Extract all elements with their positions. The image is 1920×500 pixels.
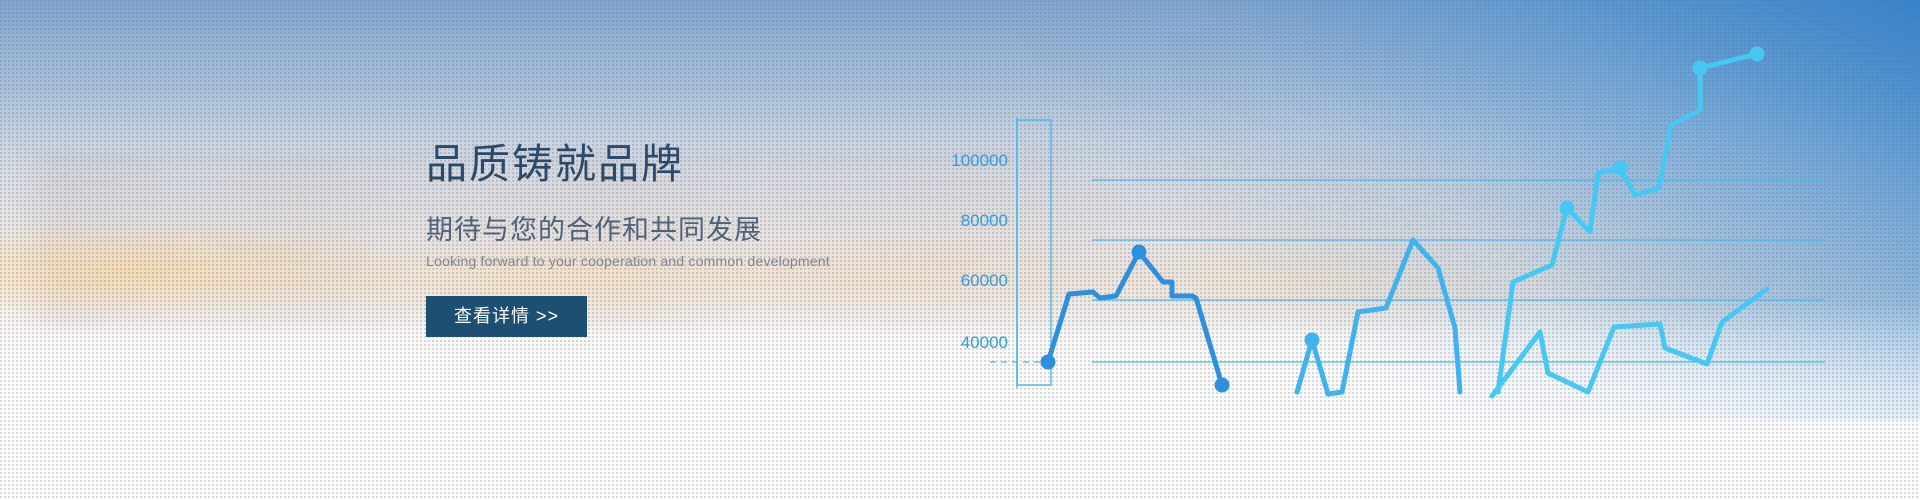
- view-details-button[interactable]: 查看详情 >>: [426, 296, 587, 337]
- hero-subtitle-english: Looking forward to your cooperation and …: [426, 253, 1066, 269]
- hero-banner: 100000800006000040000 品质铸就品牌 期待与您的合作和共同发…: [0, 0, 1920, 500]
- hero-text-block: 品质铸就品牌 期待与您的合作和共同发展 Looking forward to y…: [426, 140, 1066, 337]
- page-title: 品质铸就品牌: [426, 140, 1066, 188]
- hero-subtitle: 期待与您的合作和共同发展: [426, 208, 1066, 247]
